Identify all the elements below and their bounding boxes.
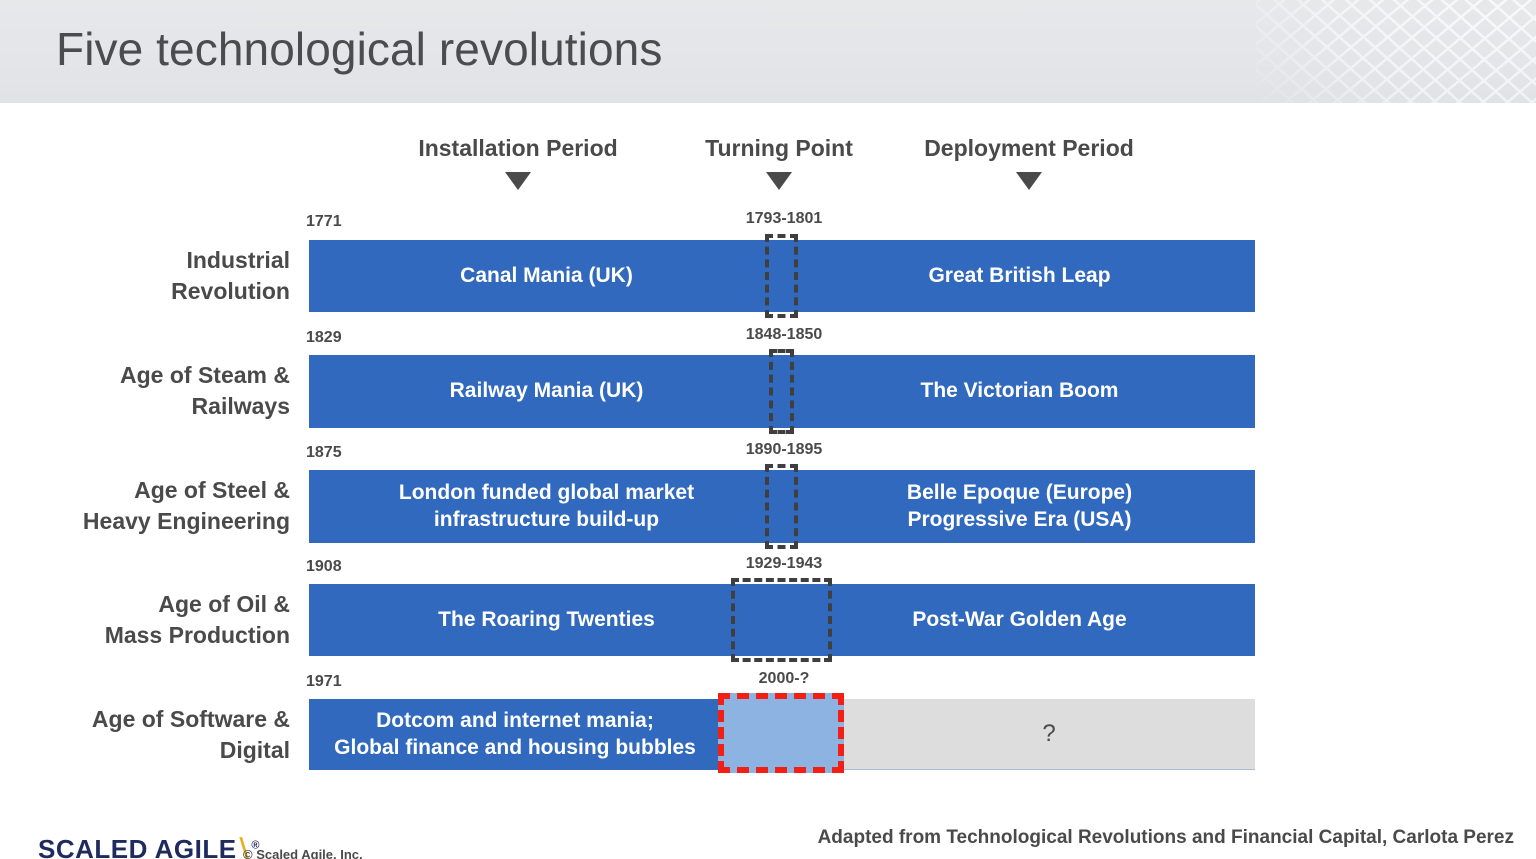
current-turning-point-box-row5 <box>718 693 844 773</box>
brand-wordmark: SCALED AGILE <box>38 834 237 859</box>
deployment-text-row2: The Victorian Boom <box>784 355 1255 428</box>
start-year-label: 1971 <box>306 673 342 691</box>
row-label-line2: Heavy Engineering <box>0 506 290 537</box>
slide-root: Five technological revolutions Installat… <box>0 0 1536 859</box>
installation-text-row3: London funded global market infrastructu… <box>309 470 784 543</box>
column-header-deployment-period: Deployment Period <box>924 135 1134 162</box>
deployment-text-row4: Post-War Golden Age <box>784 584 1255 656</box>
diagonal-mesh-pattern-icon <box>1256 0 1536 103</box>
timeline-bar-row5-installation: Dotcom and internet mania; Global financ… <box>309 699 721 770</box>
start-year-label: 1771 <box>306 213 342 231</box>
turning-years-label: 1793-1801 <box>746 210 823 228</box>
turning-point-box-row3 <box>765 464 798 549</box>
slide-header: Five technological revolutions <box>0 0 1536 103</box>
turning-point-box-row1 <box>765 234 798 318</box>
deployment-text-row1: Great British Leap <box>784 240 1255 312</box>
turning-point-box-row2 <box>769 349 794 434</box>
triangle-down-icon-installation <box>505 172 531 190</box>
timeline-bar-row5-unknown-deployment: ? <box>843 699 1255 770</box>
installation-text-row2: Railway Mania (UK) <box>309 355 784 428</box>
row-label-line2: Revolution <box>0 276 290 307</box>
row-label-line1: Age of Oil & <box>0 589 290 620</box>
row-label-line1: Age of Steam & <box>0 360 290 391</box>
start-year-label: 1875 <box>306 444 342 462</box>
triangle-down-icon-deployment <box>1016 172 1042 190</box>
row-label-industrial-revolution: Industrial Revolution <box>0 245 290 306</box>
start-year-label: 1829 <box>306 329 342 347</box>
deployment-text-row3: Belle Epoque (Europe) Progressive Era (U… <box>784 470 1255 543</box>
installation-text-row1: Canal Mania (UK) <box>309 240 784 312</box>
row-label-age-of-oil-mass-production: Age of Oil & Mass Production <box>0 589 290 650</box>
deployment-unknown-label: ? <box>843 699 1255 769</box>
installation-text-row4: The Roaring Twenties <box>309 584 784 656</box>
row-label-age-of-steam-railways: Age of Steam & Railways <box>0 360 290 421</box>
row-label-line1: Industrial <box>0 245 290 276</box>
turning-point-box-row4 <box>731 578 832 662</box>
triangle-down-icon-turning <box>766 172 792 190</box>
turning-years-label: 1848-1850 <box>746 326 823 344</box>
turning-years-label: 1929-1943 <box>746 555 823 573</box>
copyright-notice: © Scaled Agile, Inc. <box>243 847 363 859</box>
row-label-age-of-steel-heavy-engineering: Age of Steel & Heavy Engineering <box>0 475 290 536</box>
start-year-label: 1908 <box>306 558 342 576</box>
row-label-line2: Digital <box>0 735 290 766</box>
row-label-line2: Railways <box>0 391 290 422</box>
column-header-installation-period: Installation Period <box>418 135 617 162</box>
row-label-line1: Age of Steel & <box>0 475 290 506</box>
source-credit: Adapted from Technological Revolutions a… <box>818 827 1514 849</box>
scaled-agile-logo: SCALED AGILE╲® <box>38 834 260 859</box>
column-header-turning-point: Turning Point <box>705 135 853 162</box>
page-title: Five technological revolutions <box>56 22 662 76</box>
installation-text-row5: Dotcom and internet mania; Global financ… <box>309 699 721 770</box>
row-label-age-of-software-digital: Age of Software & Digital <box>0 704 290 765</box>
row-label-line1: Age of Software & <box>0 704 290 735</box>
turning-years-label: 2000-? <box>759 670 810 688</box>
row-label-line2: Mass Production <box>0 620 290 651</box>
turning-years-label: 1890-1895 <box>746 441 823 459</box>
